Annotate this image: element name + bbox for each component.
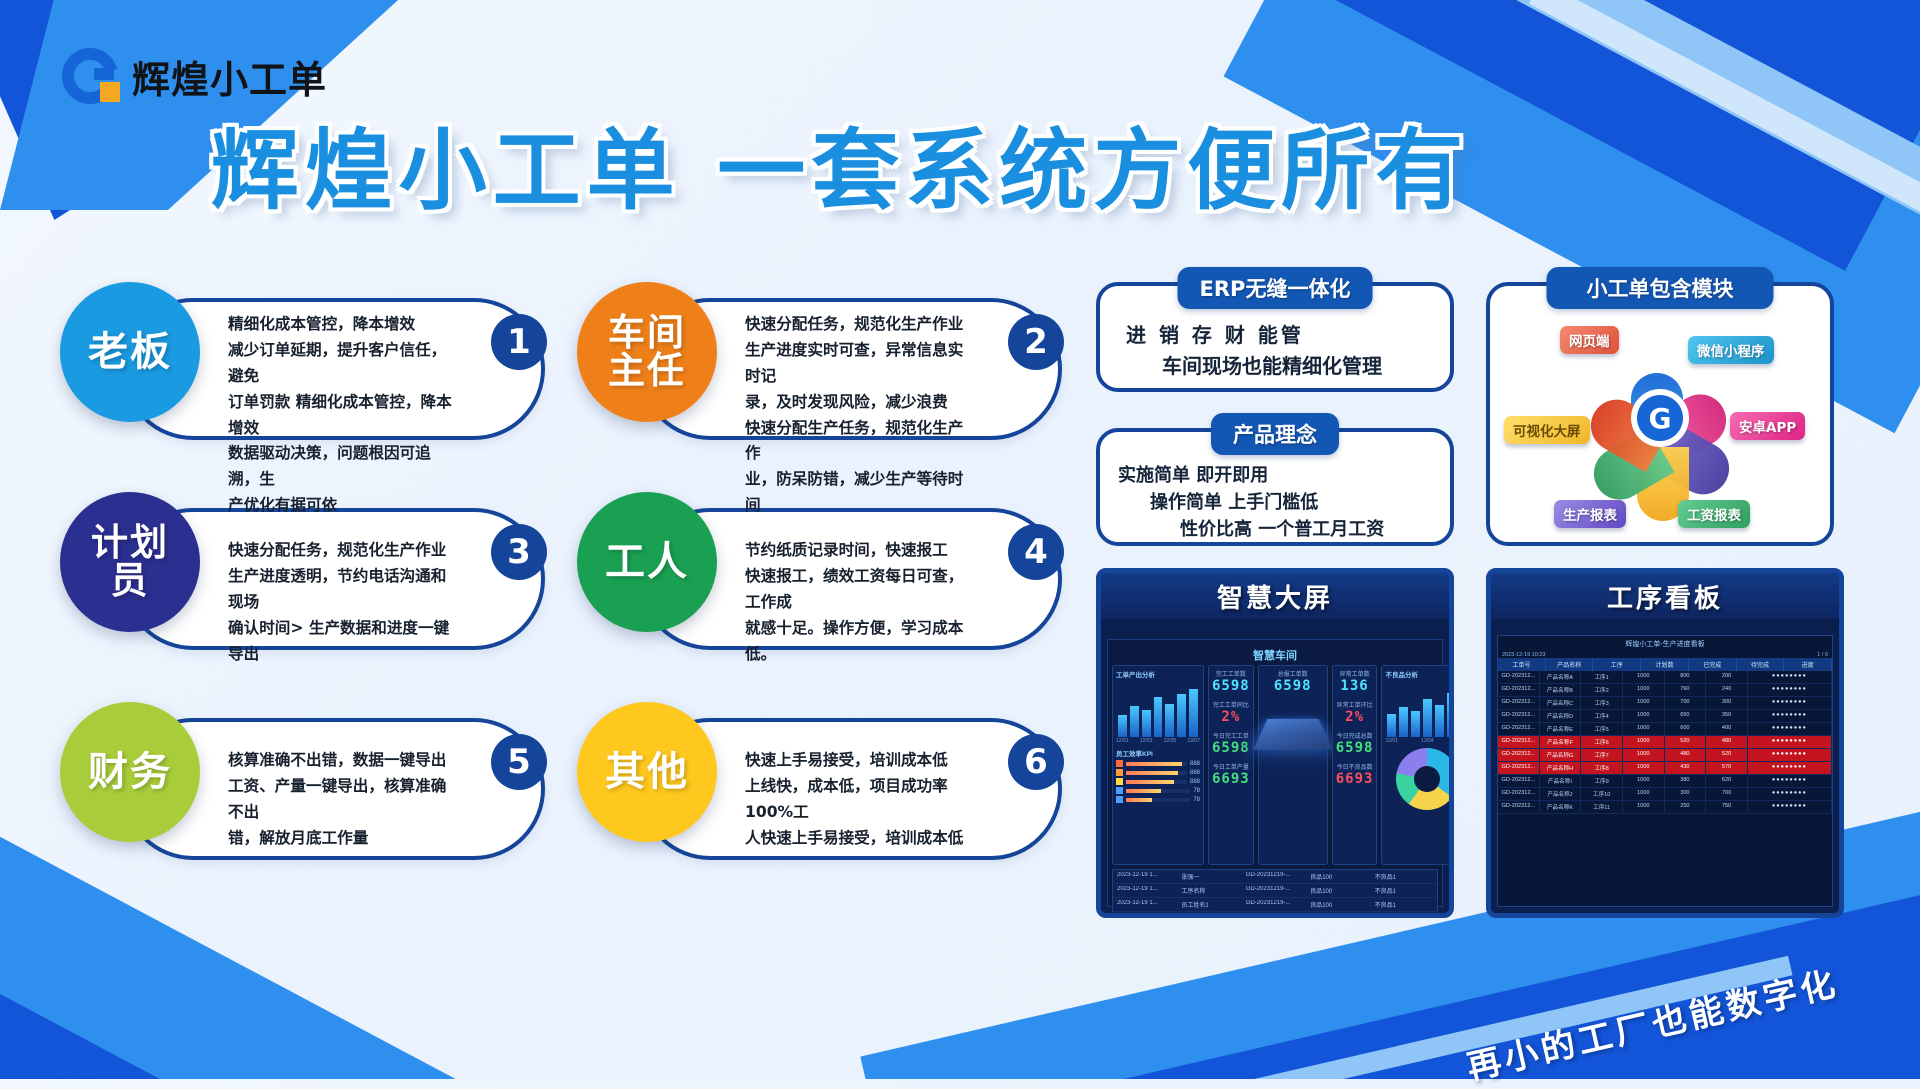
erp-line-2: 车间现场也能精细化管理 [1100, 351, 1450, 382]
modules-panel-title: 小工单包含模块 [1547, 267, 1774, 309]
role-card-other[interactable]: 其他 快速上手易接受，培训成本低 上线快，成本低，项目成功率100%工 人快速上… [577, 702, 1062, 874]
table-cell: 650 [1665, 710, 1707, 722]
role-number-badge: 3 [491, 524, 547, 580]
erp-panel: ERP无缝一体化 进 销 存 财 能管 车间现场也能精细化管理 [1096, 282, 1454, 392]
table-cell: 产品名称A [1540, 671, 1582, 683]
table-cell: 工序4 [1581, 710, 1623, 722]
kpi-column-right: 异常工单数 136 异常工单环比 2% 今日完成总数 6598 今日不良品数 6… [1332, 665, 1378, 865]
table-cell: 600 [1665, 723, 1707, 735]
brand-logo: 辉煌小工单 [62, 48, 327, 104]
progress-indicator: ●●●●●●●● [1748, 762, 1832, 774]
role-badge: 计划 员 [60, 492, 200, 632]
role-line: 产优化有据可依 [228, 493, 453, 519]
table-cell: 产品名称K [1540, 801, 1582, 813]
table-cell: 1000 [1623, 749, 1665, 761]
role-badge: 财务 [60, 702, 200, 842]
page-title: 辉煌小工单 一套系统方便所有 [0, 100, 1680, 227]
role-card-grid: 老板 精细化成本管控，降本增效 减少订单延期，提升客户信任，避免 订单罚款 精细… [60, 282, 1090, 874]
kpi-value: 2% [1212, 709, 1250, 725]
column-header: 工序 [1593, 658, 1641, 671]
panel-factory-3d: 总报工单数 6598 [1258, 665, 1328, 865]
philosophy-line-3: 性价比高 一个普工月工资 [1100, 516, 1450, 543]
table-cell: 工序1 [1581, 671, 1623, 683]
bigscreen-body: 智慧车间 工单产出分析 12/01 12/03 12/05 12/07 [1107, 639, 1443, 907]
role-line: 生产进度实时可查，异常信息实时记 [745, 338, 970, 390]
role-line: 确认时间> 生产数据和进度一键导出 [228, 616, 453, 668]
table-row[interactable]: GD-202312...产品名称D工序41000650350●●●●●●●● [1498, 710, 1832, 723]
role-description: 核算准确不出错，数据一键导出 工资、产量一键导出，核算准确不出 错，解放月底工作… [228, 748, 453, 852]
table-cell: 1000 [1623, 775, 1665, 787]
kanban-title: 工序看板 [1491, 573, 1839, 619]
progress-indicator: ●●●●●●●● [1748, 697, 1832, 709]
table-cell: 300 [1706, 697, 1748, 709]
role-line: 上线快，成本低，项目成功率100%工 [745, 774, 970, 826]
table-row: 2023-12-19 1... 工序名称 GD-20231219-... 良品1… [1113, 884, 1437, 898]
kpi-column-left: 完工工单数 6598 完工工单同比 2% 今日完工工单 6598 今日工单产量 … [1208, 665, 1254, 865]
table-cell: 产品名称H [1540, 762, 1582, 774]
kpi-label: 完工工单数 [1212, 669, 1250, 678]
table-row[interactable]: GD-202312...产品名称A工序11000800200●●●●●●●● [1498, 671, 1832, 684]
list-item: 888 [1116, 760, 1200, 767]
table-cell: 1000 [1623, 736, 1665, 748]
brand-g-icon: G [1637, 395, 1683, 441]
table-row[interactable]: GD-202312...产品名称G工序71000480520●●●●●●●● [1498, 749, 1832, 762]
role-line: 快速分配任务，规范化生产作业 [745, 312, 970, 338]
table-cell: 200 [1706, 671, 1748, 683]
table-row[interactable]: GD-202312...产品名称E工序51000600400●●●●●●●● [1498, 723, 1832, 736]
role-number-badge: 4 [1008, 524, 1064, 580]
panel-defect-analysis[interactable]: 不良品分析 12/01 12/04 12/07 [1381, 665, 1454, 865]
panel-title: 工单产出分析 [1116, 669, 1200, 679]
kpi-label: 今日工单产量 [1212, 762, 1250, 771]
role-line: 订单罚款 精细化成本管控，降本增效 [228, 390, 453, 442]
column-header: 待完成 [1737, 658, 1785, 671]
column-header: 计划数 [1641, 658, 1689, 671]
role-line: 精细化成本管控，降本增效 [228, 312, 453, 338]
role-description: 精细化成本管控，降本增效 减少订单延期，提升客户信任，避免 订单罚款 精细化成本… [228, 312, 453, 519]
module-label-web[interactable]: 网页端 [1560, 326, 1619, 354]
kpi-value: 6598 [1212, 678, 1250, 694]
erp-panel-title: ERP无缝一体化 [1178, 267, 1373, 309]
table-cell: GD-202312... [1498, 697, 1540, 709]
list-item: 78 [1116, 787, 1200, 794]
kpi-label: 总报工单数 [1262, 669, 1324, 678]
role-label: 工人 [605, 542, 689, 583]
dashboard-bigscreen[interactable]: 智慧大屏 智慧车间 工单产出分析 12/01 12/03 12/05 12/07 [1096, 568, 1454, 918]
bigscreen-grid: 工单产出分析 12/01 12/03 12/05 12/07 员工效率KPI [1112, 665, 1438, 865]
table-row[interactable]: GD-202312...产品名称K工序111000250750●●●●●●●● [1498, 801, 1832, 814]
right-top-row: ERP无缝一体化 进 销 存 财 能管 车间现场也能精细化管理 产品理念 实施简… [1096, 282, 1866, 546]
role-line: 快速分配任务，规范化生产作业 [228, 538, 453, 564]
table-cell: 1000 [1623, 723, 1665, 735]
role-description: 快速分配任务，规范化生产作业 生产进度实时可查，异常信息实时记 录，及时发现风险… [745, 312, 970, 519]
modules-panel: 小工单包含模块 G 网页端 微信小程序 安卓APP 工资报表 生产报表 可视化大… [1486, 282, 1834, 546]
table-cell: 250 [1665, 801, 1707, 813]
table-cell: 工序7 [1581, 749, 1623, 761]
table-row: 2023-12-19 1... 张强一 GD-20231219-... 良品10… [1113, 870, 1437, 884]
column-header: 已完成 [1689, 658, 1737, 671]
table-cell: GD-202312... [1498, 762, 1540, 774]
kpi-label: 异常工单环比 [1336, 700, 1374, 709]
table-row: 2023-12-19 1... 员工姓名2 GD-20231219-... 良品… [1113, 912, 1437, 918]
list-item: 888 [1116, 769, 1200, 776]
role-description: 快速分配任务，规范化生产作业 生产进度透明，节约电话沟通和现场 确认时间> 生产… [228, 538, 453, 667]
role-description: 快速上手易接受，培训成本低 上线快，成本低，项目成功率100%工 人快速上手易接… [745, 748, 970, 852]
table-cell: 工序6 [1581, 736, 1623, 748]
table-row[interactable]: GD-202312...产品名称C工序31000700300●●●●●●●● [1498, 697, 1832, 710]
table-cell: GD-202312... [1498, 788, 1540, 800]
kanban-row-list: GD-202312...产品名称A工序11000800200●●●●●●●●GD… [1498, 671, 1832, 814]
table-cell: 工序2 [1581, 684, 1623, 696]
table-cell: 产品名称F [1540, 736, 1582, 748]
table-cell: 产品名称D [1540, 710, 1582, 722]
table-cell: GD-202312... [1498, 736, 1540, 748]
chart-axis: 12/01 12/03 12/05 12/07 [1116, 737, 1200, 744]
philosophy-line-1: 实施简单 即开即用 [1100, 462, 1450, 489]
progress-indicator: ●●●●●●●● [1748, 788, 1832, 800]
table-row[interactable]: GD-202312...产品名称H工序81000430570●●●●●●●● [1498, 762, 1832, 775]
role-line: 就感十足。操作方便，学习成本低。 [745, 616, 970, 668]
table-cell: 380 [1665, 775, 1707, 787]
table-cell: GD-202312... [1498, 775, 1540, 787]
column-header: 进度 [1784, 658, 1832, 671]
table-cell: 240 [1706, 684, 1748, 696]
panel-output-analysis[interactable]: 工单产出分析 12/01 12/03 12/05 12/07 员工效率KPI [1112, 665, 1204, 865]
right-bottom-row: 智慧大屏 智慧车间 工单产出分析 12/01 12/03 12/05 12/07 [1096, 546, 1866, 918]
progress-indicator: ●●●●●●●● [1748, 684, 1832, 696]
role-line: 错，解放月底工作量 [228, 826, 453, 852]
role-line: 工资、产量一键导出，核算准确不出 [228, 774, 453, 826]
role-line: 业，防呆防错，减少生产等待时间 [745, 467, 970, 519]
role-badge: 其他 [577, 702, 717, 842]
table-cell: 520 [1706, 749, 1748, 761]
axis-tick: 12/03 [1140, 738, 1153, 744]
role-line: 数据驱动决策，问题根因可追溯，生 [228, 441, 453, 493]
philosophy-panel-title: 产品理念 [1211, 413, 1339, 455]
role-card-row: 财务 核算准确不出错，数据一键导出 工资、产量一键导出，核算准确不出 错，解放月… [60, 702, 1090, 874]
kpi-value: 6598 [1336, 740, 1374, 756]
kanban-table[interactable]: 辉煌小工单-生产进度看板 2023-12-19 10:23 1 / 6 工单号 … [1497, 635, 1833, 907]
table-cell: 480 [1665, 749, 1707, 761]
table-cell: 产品名称I [1540, 775, 1582, 787]
module-label-production-report[interactable]: 生产报表 [1554, 500, 1626, 528]
role-line: 节约纸质记录时间，快速报工 [745, 538, 970, 564]
role-card-finance[interactable]: 财务 核算准确不出错，数据一键导出 工资、产量一键导出，核算准确不出 错，解放月… [60, 702, 545, 874]
role-line: 人快速上手易接受，培训成本低 [745, 826, 970, 852]
table-cell: 工序5 [1581, 723, 1623, 735]
table-cell: 760 [1665, 684, 1707, 696]
table-cell: GD-202312... [1498, 801, 1540, 813]
table-cell: 1000 [1623, 801, 1665, 813]
role-line: 录，及时发现风险，减少浪费 [745, 390, 970, 416]
axis-tick: 12/01 [1116, 738, 1129, 744]
philosophy-line-2: 操作简单 上手门槛低 [1100, 489, 1450, 516]
kpi-label: 今日完工工单 [1212, 731, 1250, 740]
table-cell: GD-202312... [1498, 671, 1540, 683]
progress-indicator: ●●●●●●●● [1748, 736, 1832, 748]
table-cell: 400 [1706, 723, 1748, 735]
role-line: 核算准确不出错，数据一键导出 [228, 748, 453, 774]
chart-axis: 12/01 12/04 12/07 [1385, 737, 1454, 744]
modules-diagram: G 网页端 微信小程序 安卓APP 工资报表 生产报表 可视化大屏 [1502, 304, 1818, 532]
role-label: 其他 [605, 752, 689, 793]
factory-3d-model [1253, 719, 1332, 750]
module-label-visual-bigscreen[interactable]: 可视化大屏 [1504, 416, 1590, 444]
table-cell: 300 [1665, 788, 1707, 800]
role-number-badge: 2 [1008, 314, 1064, 370]
list-item: 78 [1116, 796, 1200, 803]
table-cell: 1000 [1623, 788, 1665, 800]
kpi-value: 6693 [1336, 771, 1374, 787]
table-cell: 800 [1665, 671, 1707, 683]
kpi-value: 136 [1336, 678, 1374, 694]
role-label: 计划 员 [91, 524, 169, 599]
table-cell: 工序11 [1581, 801, 1623, 813]
role-label: 车间 主任 [608, 314, 686, 389]
panel-title: 员工效率KPI [1116, 748, 1200, 758]
role-card-row: 老板 精细化成本管控，降本增效 减少订单延期，提升客户信任，避免 订单罚款 精细… [60, 282, 1090, 454]
table-cell: 1000 [1623, 684, 1665, 696]
bigscreen-title: 智慧大屏 [1101, 573, 1449, 619]
progress-indicator: ●●●●●●●● [1748, 775, 1832, 787]
erp-line-1: 进 销 存 财 能管 [1100, 320, 1450, 351]
table-cell: 620 [1706, 775, 1748, 787]
table-cell: 工序8 [1581, 762, 1623, 774]
table-row[interactable]: GD-202312...产品名称I工序91000380620●●●●●●●● [1498, 775, 1832, 788]
table-cell: 700 [1706, 788, 1748, 800]
table-cell: 350 [1706, 710, 1748, 722]
defect-bar-chart [1385, 679, 1454, 737]
bigscreen-report-table[interactable]: 2023-12-19 1... 张强一 GD-20231219-... 良品10… [1112, 869, 1438, 918]
kpi-value: 2% [1336, 709, 1374, 725]
defect-donut-chart [1396, 748, 1454, 810]
axis-tick: 12/05 [1164, 738, 1177, 744]
table-cell: 570 [1706, 762, 1748, 774]
module-label-android-app[interactable]: 安卓APP [1730, 412, 1805, 440]
table-cell: 产品名称C [1540, 697, 1582, 709]
kpi-value: 6598 [1212, 740, 1250, 756]
progress-indicator: ●●●●●●●● [1748, 671, 1832, 683]
dashboard-kanban[interactable]: 工序看板 辉煌小工单-生产进度看板 2023-12-19 10:23 1 / 6… [1486, 568, 1844, 918]
module-label-salary-report[interactable]: 工资报表 [1678, 500, 1750, 528]
panel-title: 不良品分析 [1385, 669, 1454, 679]
table-cell: 1000 [1623, 710, 1665, 722]
role-line: 快速分配生产任务，规范化生产作 [745, 416, 970, 468]
table-cell: 产品名称G [1540, 749, 1582, 761]
table-cell: 700 [1665, 697, 1707, 709]
table-cell: 产品名称E [1540, 723, 1582, 735]
kpi-label: 今日不良品数 [1336, 762, 1374, 771]
table-cell: 430 [1665, 762, 1707, 774]
module-label-wechat-miniprogram[interactable]: 微信小程序 [1688, 336, 1774, 364]
axis-tick: 12/07 [1187, 738, 1200, 744]
table-cell: 520 [1665, 736, 1707, 748]
role-description: 节约纸质记录时间，快速报工 快速报工，绩效工资每日可查，工作成 就感十足。操作方… [745, 538, 970, 667]
role-number-badge: 5 [491, 734, 547, 790]
table-cell: 工序9 [1581, 775, 1623, 787]
right-column: ERP无缝一体化 进 销 存 财 能管 车间现场也能精细化管理 产品理念 实施简… [1096, 282, 1866, 918]
role-line: 快速报工，绩效工资每日可查，工作成 [745, 564, 970, 616]
column-header: 产品名称 [1546, 658, 1594, 671]
role-line: 减少订单延期，提升客户信任，避免 [228, 338, 453, 390]
role-badge: 工人 [577, 492, 717, 632]
product-philosophy-panel: 产品理念 实施简单 即开即用 操作简单 上手门槛低 性价比高 一个普工月工资 [1096, 428, 1454, 546]
brand-g-icon [62, 48, 118, 104]
table-cell: 产品名称J [1540, 788, 1582, 800]
axis-tick: 12/04 [1421, 738, 1434, 744]
role-line: 生产进度透明，节约电话沟通和现场 [228, 564, 453, 616]
table-cell: GD-202312... [1498, 749, 1540, 761]
kanban-subtitle: 辉煌小工单-生产进度看板 [1498, 636, 1832, 652]
table-cell: GD-202312... [1498, 723, 1540, 735]
table-cell: 1000 [1623, 671, 1665, 683]
table-cell: 工序3 [1581, 697, 1623, 709]
role-number-badge: 1 [491, 314, 547, 370]
bigscreen-subtitle: 智慧车间 [1112, 644, 1438, 665]
table-cell: 1000 [1623, 697, 1665, 709]
table-cell: GD-202312... [1498, 710, 1540, 722]
table-row[interactable]: GD-202312...产品名称F工序61000520480●●●●●●●● [1498, 736, 1832, 749]
table-row[interactable]: GD-202312...产品名称B工序21000760240●●●●●●●● [1498, 684, 1832, 697]
progress-indicator: ●●●●●●●● [1748, 801, 1832, 813]
column-header: 工单号 [1498, 658, 1546, 671]
table-cell: GD-202312... [1498, 684, 1540, 696]
kpi-value: 6693 [1212, 771, 1250, 787]
role-badge: 老板 [60, 282, 200, 422]
kanban-header-row: 工单号 产品名称 工序 计划数 已完成 待完成 进度 [1498, 658, 1832, 671]
trend-chart [1116, 679, 1200, 737]
axis-tick: 12/01 [1385, 738, 1398, 744]
kpi-label: 完工工单同比 [1212, 700, 1250, 709]
role-line: 快速上手易接受，培训成本低 [745, 748, 970, 774]
logo-text: 辉煌小工单 [132, 49, 327, 104]
kpi-value: 6598 [1262, 678, 1324, 694]
table-cell: 1000 [1623, 762, 1665, 774]
employee-kpi-list: 888 888 888 78 78 [1116, 760, 1200, 803]
list-item: 888 [1116, 778, 1200, 785]
kpi-label: 异常工单数 [1336, 669, 1374, 678]
table-cell: 产品名称B [1540, 684, 1582, 696]
progress-indicator: ●●●●●●●● [1748, 710, 1832, 722]
role-label: 老板 [88, 332, 172, 373]
role-number-badge: 6 [1008, 734, 1064, 790]
table-cell: 工序10 [1581, 788, 1623, 800]
role-badge: 车间 主任 [577, 282, 717, 422]
table-row: 2023-12-19 1... 员工姓名1 GD-20231219-... 良品… [1113, 898, 1437, 912]
role-label: 财务 [88, 752, 172, 793]
kpi-label: 今日完成总数 [1336, 731, 1374, 740]
table-row[interactable]: GD-202312...产品名称J工序101000300700●●●●●●●● [1498, 788, 1832, 801]
role-card-workshop-director[interactable]: 车间 主任 快速分配任务，规范化生产作业 生产进度实时可查，异常信息实时记 录，… [577, 282, 1062, 454]
progress-indicator: ●●●●●●●● [1748, 749, 1832, 761]
progress-indicator: ●●●●●●●● [1748, 723, 1832, 735]
role-card-boss[interactable]: 老板 精细化成本管控，降本增效 减少订单延期，提升客户信任，避免 订单罚款 精细… [60, 282, 545, 454]
table-cell: 480 [1706, 736, 1748, 748]
table-cell: 750 [1706, 801, 1748, 813]
